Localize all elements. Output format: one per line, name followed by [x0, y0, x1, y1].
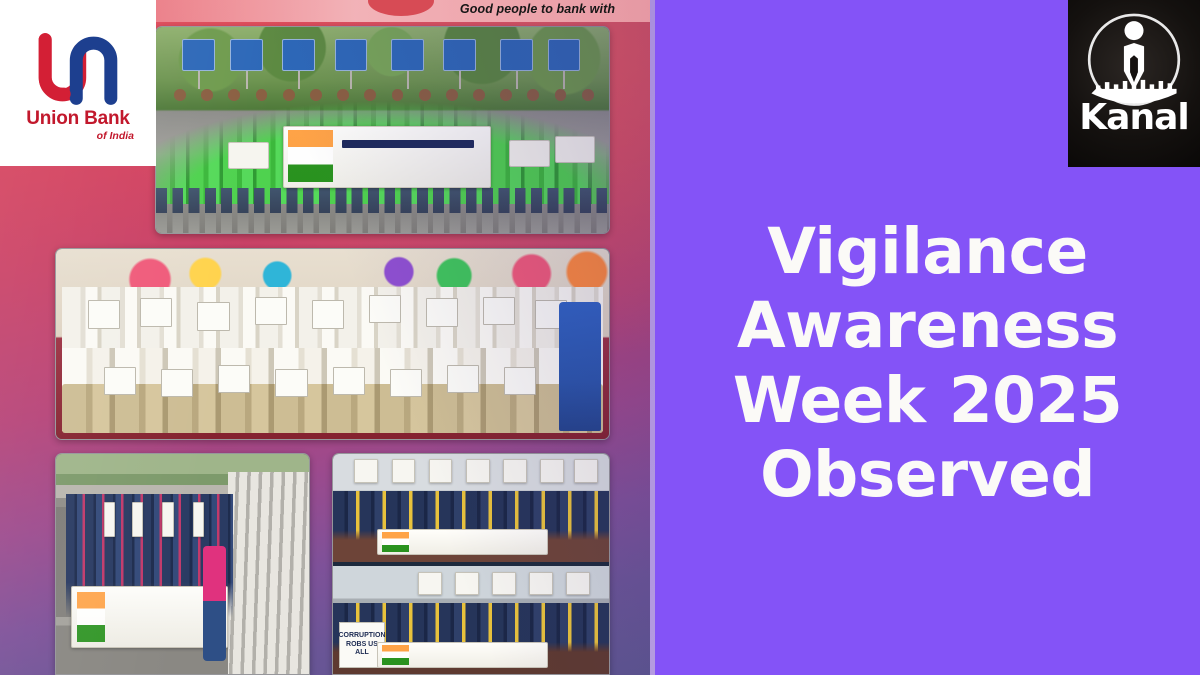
photo-rally-green — [155, 26, 610, 234]
photo-collage-panel: Good people to bank with — [0, 0, 655, 675]
kanal-watermark-logo: Kanal — [1068, 0, 1200, 167]
photo-pledge-top — [333, 454, 609, 562]
photo-pledge-bottom: CORRUPTION ROBS US ALL — [333, 566, 609, 674]
title-line-1: Vigilance — [674, 215, 1182, 289]
photo-road-placards — [96, 502, 223, 550]
photo-students — [55, 248, 610, 440]
panel-divider — [650, 0, 655, 675]
photo-students-teacher — [559, 302, 600, 431]
corruption-placard-line-3: ALL — [355, 649, 369, 658]
photo-rally-sign-3 — [555, 136, 596, 163]
corruption-placard-line-2: ROBS US — [346, 641, 378, 650]
photo-rally-sign-1 — [228, 142, 269, 169]
union-bank-u-mark-icon — [26, 31, 130, 107]
photo-road-participant — [203, 546, 226, 660]
photo-rally-banner — [283, 126, 491, 188]
bank-tagline: Good people to bank with — [420, 2, 655, 16]
union-bank-subtitle: of India — [97, 130, 134, 142]
kanal-wordmark: Kanal — [1079, 102, 1188, 134]
page-title: Vigilance Awareness Week 2025 Observed — [668, 215, 1188, 512]
photo-rally-lower-body — [156, 188, 609, 233]
union-bank-logo: Union Bank of India — [0, 0, 156, 166]
title-line-3: Week 2025 — [674, 364, 1182, 438]
photo-rally-placards — [165, 39, 600, 93]
poster-canvas: Good people to bank with — [0, 0, 1200, 675]
photo-rally-sign-2 — [509, 140, 550, 167]
union-bank-name: Union Bank — [26, 109, 130, 128]
photo-pledge-bottom-banner — [377, 642, 548, 668]
photo-pledge-bottom-placards — [339, 572, 604, 604]
title-line-2: Awareness — [674, 289, 1182, 363]
photo-road-march — [55, 453, 310, 675]
photo-pledge-top-placards — [339, 459, 604, 491]
title-line-4: Observed — [674, 438, 1182, 512]
photo-pledge-pair: CORRUPTION ROBS US ALL — [332, 453, 610, 675]
photo-pledge-top-banner — [377, 529, 548, 555]
photo-road-railing — [228, 472, 309, 674]
photo-students-drawings — [73, 249, 593, 439]
corruption-placard-line-1: CORRUPTION — [338, 632, 385, 641]
